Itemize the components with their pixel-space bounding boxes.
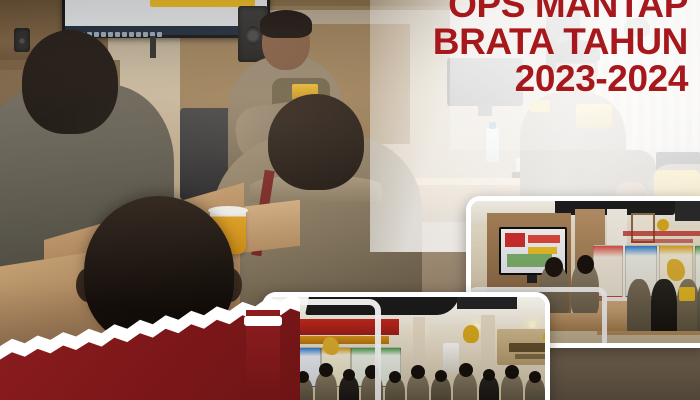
tv-stand: [150, 36, 156, 58]
right-officer-shoulder-badge: [530, 100, 550, 112]
composite-graphic: OPS MANTAP BRATA TAHUN 2023-2024: [0, 0, 700, 400]
right-officer-rank-badge: [576, 104, 612, 128]
speaker-hair: [260, 10, 312, 38]
windows-taskbar: [65, 26, 267, 35]
monitor-stand: [478, 104, 492, 116]
red-banner-right-torn-edge: [244, 316, 282, 326]
wall-bracket-left: [14, 28, 30, 52]
cup-rim: [208, 206, 248, 215]
inset-photo-bottom[interactable]: [262, 292, 550, 400]
title-line-1: OPS MANTAP: [433, 0, 688, 23]
title-line-2: BRATA TAHUN: [433, 24, 688, 60]
water-bottle: [486, 128, 499, 162]
tv-slide-content: [65, 0, 267, 26]
back-left-head: [22, 30, 118, 134]
inset-bottom-grade: [267, 297, 545, 400]
title-line-3: 2023-2024: [433, 61, 688, 97]
back-center-head: [268, 94, 364, 190]
headline-title: OPS MANTAP BRATA TAHUN 2023-2024: [433, 0, 688, 97]
